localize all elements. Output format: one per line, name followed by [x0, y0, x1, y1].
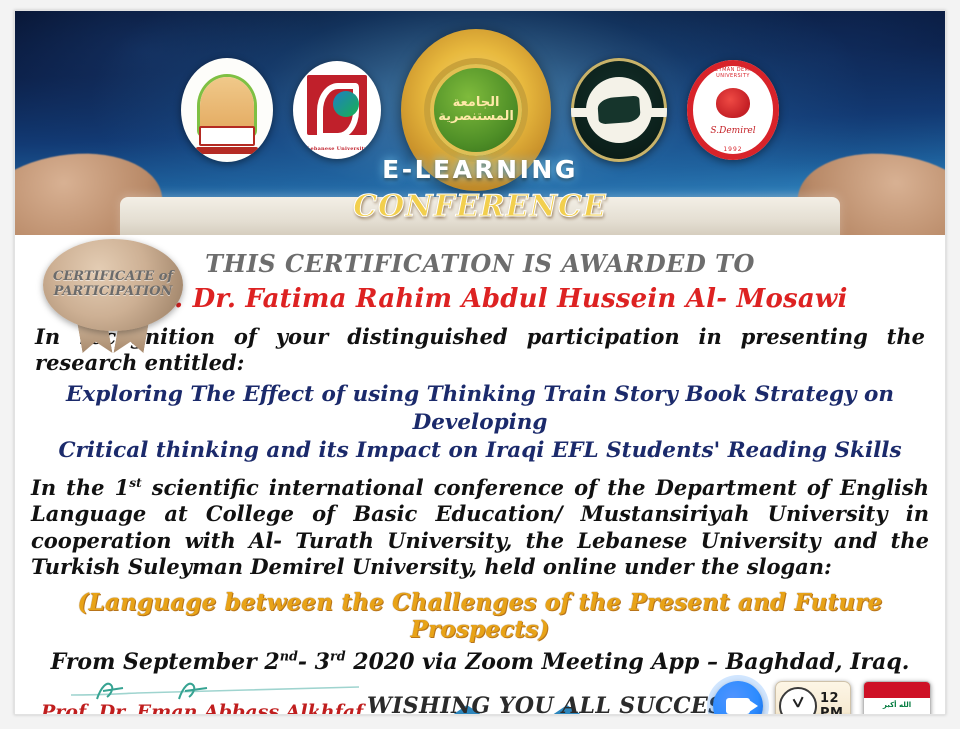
clock-time-label: 12 PM	[820, 691, 850, 715]
wish-message: WISHING YOU ALL SUCCESS	[367, 693, 740, 715]
flag-stripe-red	[864, 682, 930, 698]
conference-slogan: (Language between the Challenges of the …	[31, 589, 929, 643]
clock-face	[779, 687, 817, 715]
suleyman-demirel-name: SULEYMAN DEMIREL UNIVERSITY	[687, 67, 779, 79]
mustansiriyah-basic-education-logo	[181, 58, 273, 162]
date-suffix-rd: rd	[330, 649, 346, 664]
footer-icons: 12 PM الله أكبر	[713, 681, 931, 715]
certificate-footer: Prof. Dr. Eman Abbass Alkhfaf Dean of Co…	[15, 677, 945, 715]
participation-seal: CERTIFICATE of PARTICIPATION	[37, 239, 189, 351]
signer-name: Prof. Dr. Eman Abbass Alkhfaf	[41, 701, 371, 715]
seal-text: CERTIFICATE of PARTICIPATION	[53, 270, 173, 299]
event-name: E-LEARNING	[15, 155, 945, 184]
seal-line-2: PARTICIPATION	[53, 285, 173, 300]
flag-takbir-text: الله أكبر	[864, 697, 930, 713]
flag-stripe-black	[864, 714, 930, 716]
iraq-flag-icon: الله أكبر	[863, 681, 931, 715]
lebanese-university-caption: Lebanese University	[293, 146, 381, 152]
winged-bull-icon	[597, 96, 641, 125]
conference-text-before: In the	[31, 475, 115, 500]
research-title: Exploring The Effect of using Thinking T…	[31, 381, 929, 465]
logo-square-shape	[307, 75, 367, 135]
research-title-line-1: Exploring The Effect of using Thinking T…	[66, 382, 894, 435]
camera-glyph	[726, 698, 750, 714]
lebanese-university-logo: Lebanese University	[293, 61, 381, 159]
header-banner: Lebanese University الجامعة المستنصرية S…	[15, 11, 945, 235]
conference-text-after: scientific international conference of t…	[31, 475, 929, 579]
research-title-line-2: Critical thinking and its Impact on Iraq…	[58, 438, 901, 463]
demirel-signature: S.Demirel	[687, 126, 779, 136]
conference-paragraph: In the 1st scientific international conf…	[31, 475, 929, 581]
date-tail: 2020 via Zoom Meeting App – Baghdad, Ira…	[346, 649, 910, 675]
handwritten-signature-icon	[67, 679, 367, 701]
rose-icon	[716, 88, 750, 118]
certificate-sheet: Lebanese University الجامعة المستنصرية S…	[14, 10, 946, 715]
founding-year: 1992	[687, 146, 779, 153]
event-type: CONFERENCE	[15, 189, 945, 224]
conference-ordinal: 1	[115, 475, 130, 500]
clock-icon: 12 PM	[775, 681, 851, 715]
open-book-icon	[199, 126, 255, 146]
al-turath-university-logo	[571, 58, 667, 162]
conference-dateline: From September 2nd- 3rd 2020 via Zoom Me…	[31, 649, 929, 675]
date-mid: - 3	[298, 649, 330, 675]
date-suffix-nd: nd	[280, 649, 298, 664]
signature-block: Prof. Dr. Eman Abbass Alkhfaf Dean of Co…	[41, 679, 371, 715]
date-prefix: From September 2	[51, 649, 280, 675]
certificate-body: CERTIFICATE of PARTICIPATION THIS CERTIF…	[15, 235, 945, 675]
zoom-video-camera-icon	[713, 681, 763, 715]
seal-line-1: CERTIFICATE of	[53, 270, 173, 285]
logo-medallion: الجامعة المستنصرية	[430, 64, 522, 156]
seal-disc: CERTIFICATE of PARTICIPATION	[43, 239, 183, 331]
logo-base-shape	[196, 147, 258, 154]
logo-dot-shape	[333, 91, 359, 117]
suleyman-demirel-university-logo: SULEYMAN DEMIREL UNIVERSITY S.Demirel 19…	[687, 60, 779, 160]
mustansiriyah-arabic-caption: الجامعة المستنصرية	[430, 96, 522, 123]
certificate-page: Lebanese University الجامعة المستنصرية S…	[0, 0, 960, 729]
conference-ordinal-suffix: st	[129, 476, 141, 490]
